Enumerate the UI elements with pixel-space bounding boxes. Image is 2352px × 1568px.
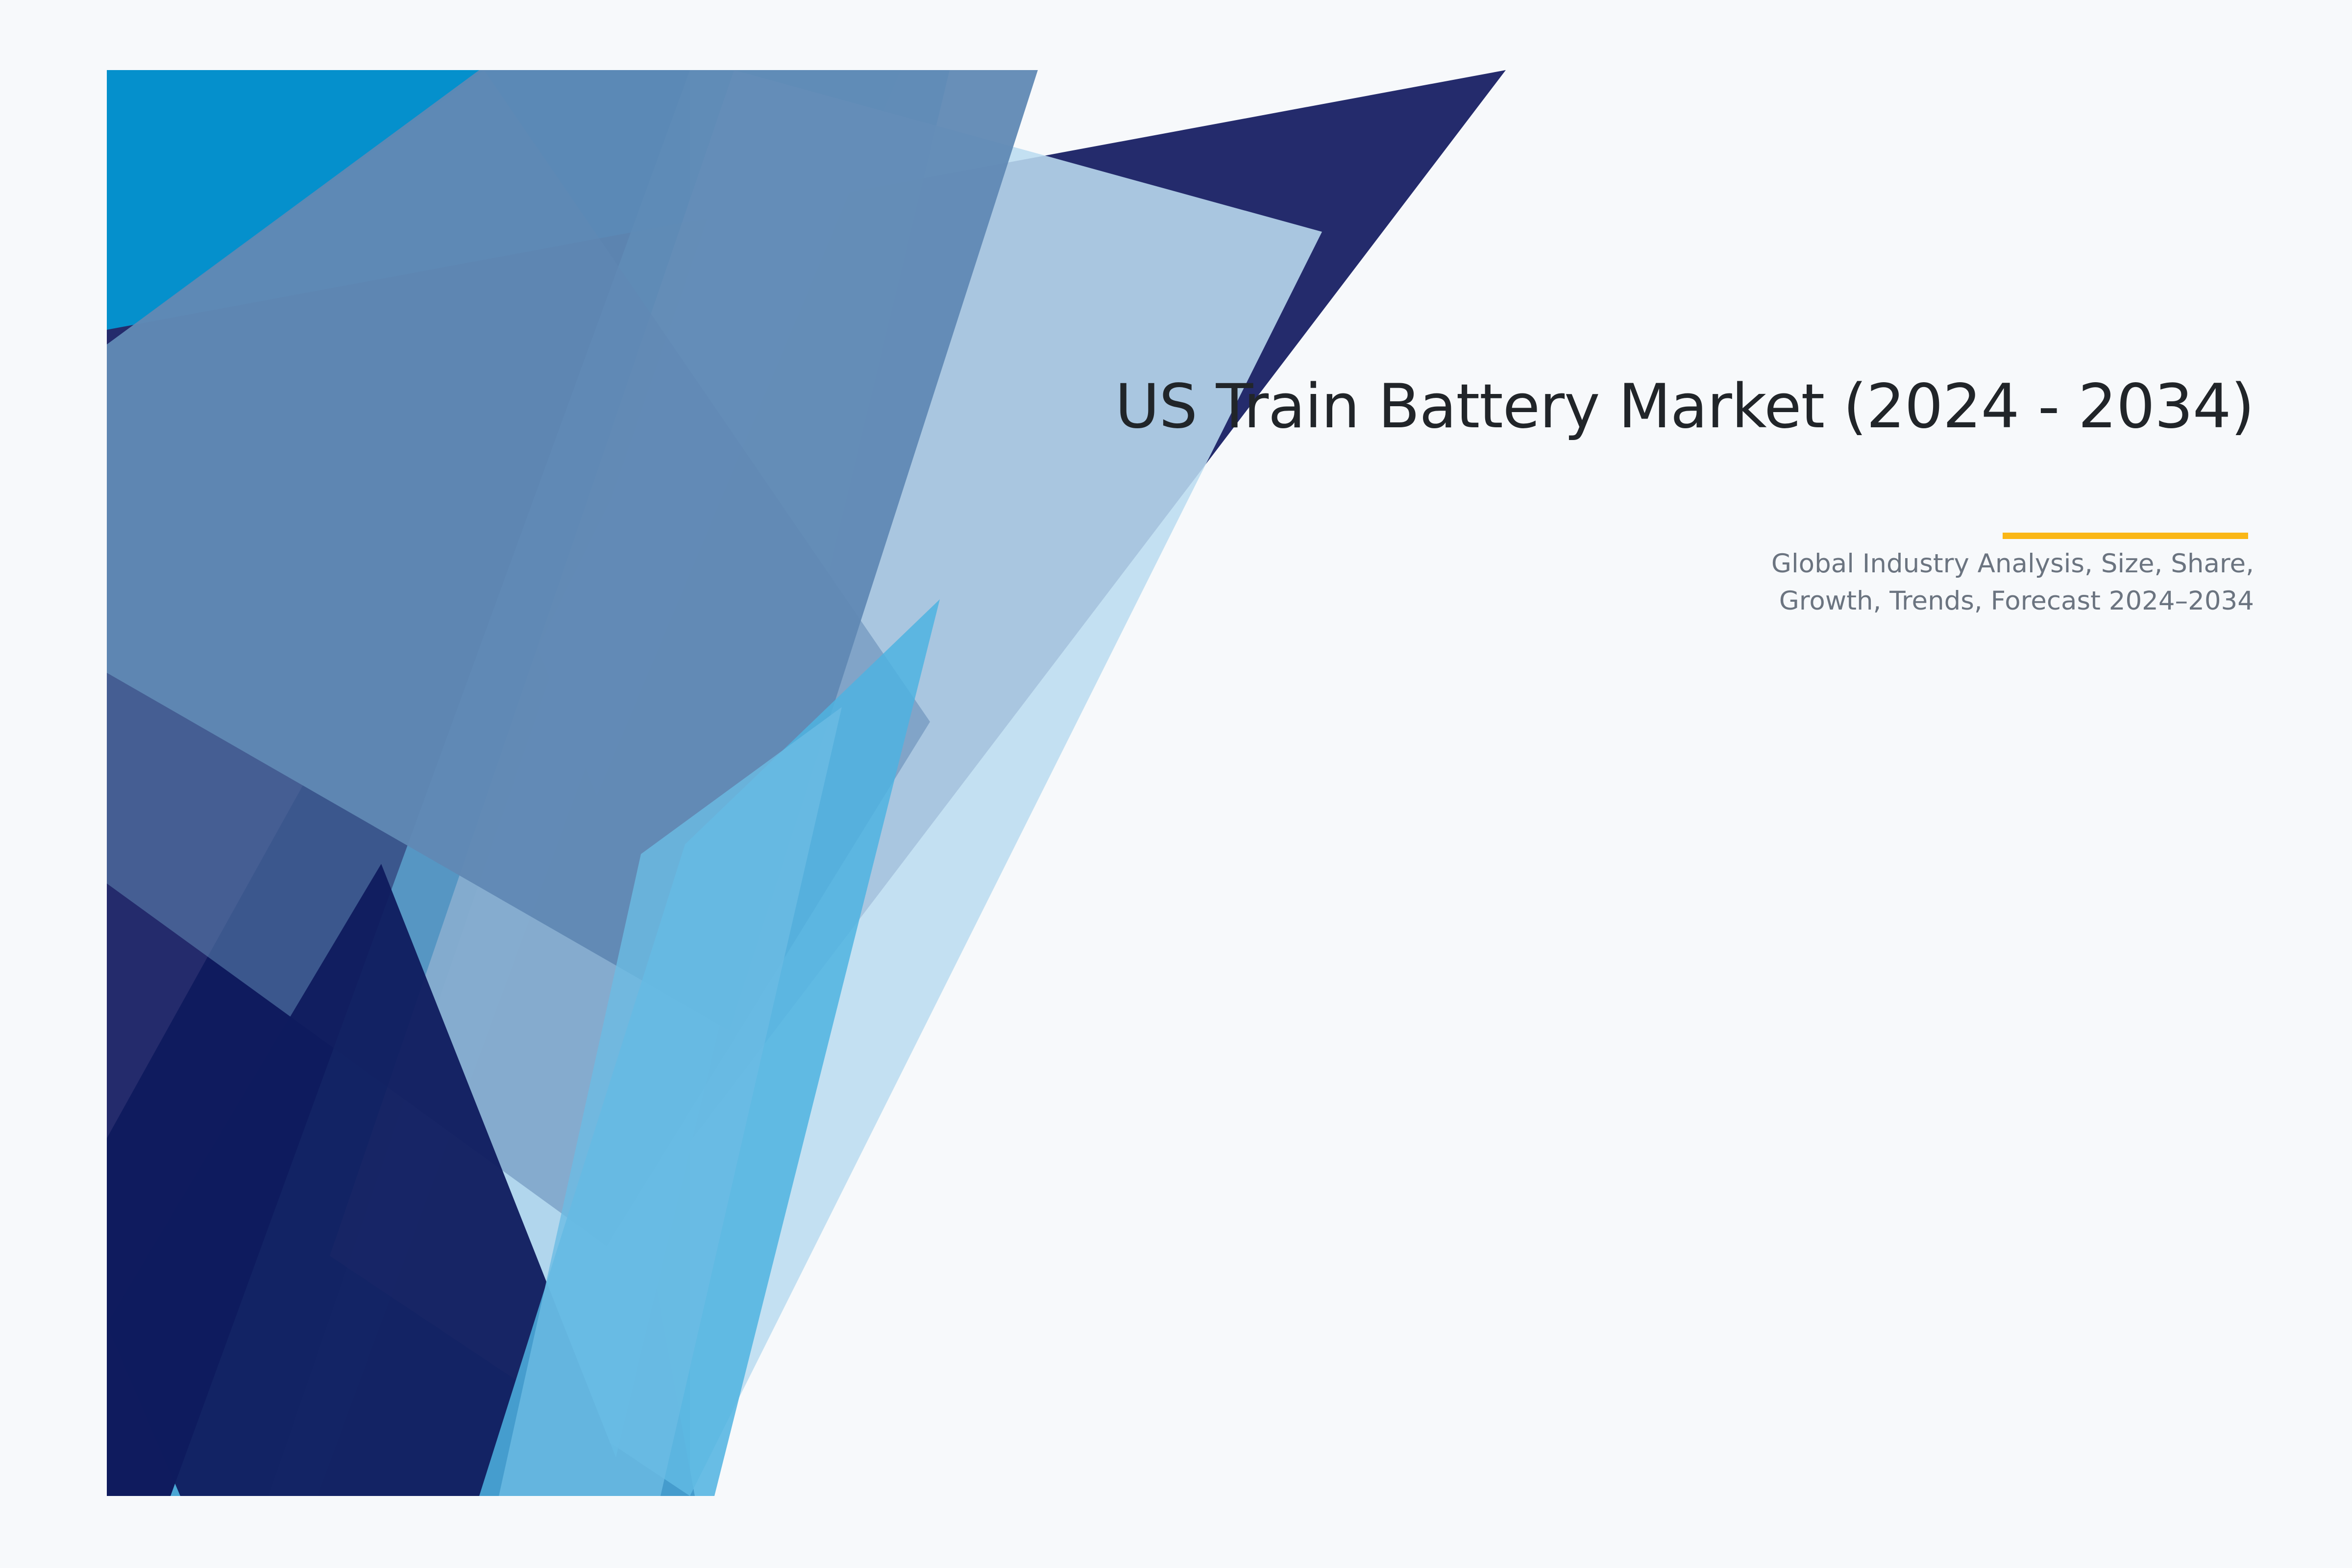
page-subtitle: Global Industry Analysis, Size, Share, G…: [1068, 441, 2254, 619]
shape-cyan-spike: [538, 70, 901, 795]
title-text-block: US Train Battery Market (2024 - 2034) Gl…: [1068, 372, 2254, 619]
shape-light-blue-band: [269, 70, 950, 1496]
page-title: US Train Battery Market (2024 - 2034): [1068, 372, 2254, 441]
shape-light-blue-lower-triangle: [499, 707, 842, 1496]
abstract-geometric-artwork: [107, 70, 1508, 1496]
shape-pale-blue-parallelogram: [330, 70, 1322, 1496]
artwork-svg: [107, 70, 1508, 1496]
shape-deep-navy-wedge: [107, 433, 695, 1496]
shape-cyan-base: [107, 70, 690, 1496]
shape-sky-blue-lower-wedge: [479, 599, 940, 1496]
shape-navy-top-triangle: [107, 70, 1506, 1496]
title-wrapper: US Train Battery Market (2024 - 2034): [1068, 372, 2254, 441]
shape-deep-navy-v: [107, 864, 631, 1496]
slide-canvas: US Train Battery Market (2024 - 2034) Gl…: [0, 0, 2352, 1568]
shape-sky-blue-band: [171, 70, 842, 1496]
title-accent-underline: [2003, 533, 2248, 539]
shape-slate-blue-parallelogram: [107, 70, 1038, 1030]
shape-slate-blue-panel: [107, 70, 930, 1246]
